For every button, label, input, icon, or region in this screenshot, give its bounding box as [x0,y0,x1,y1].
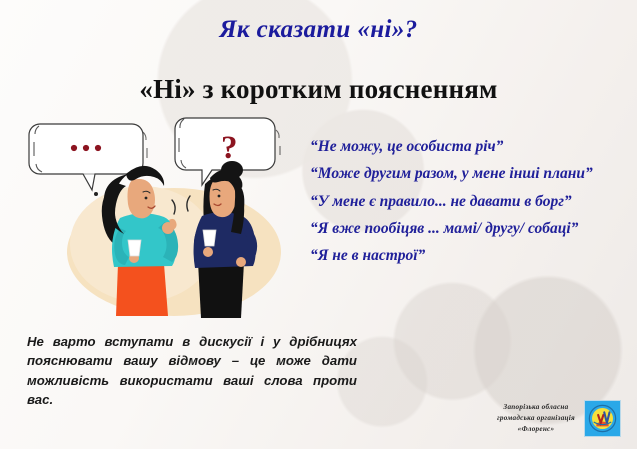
org-line-1: Запорізька обласна [497,402,575,413]
org-line-3: «Флоренс» [497,424,575,435]
quote-item: “Я вже пообіцяв ... мамі/ другу/ собаці” [310,218,622,240]
page-subtitle: «Ні» з коротким поясненням [0,74,637,105]
quote-item: “Може другим разом, у мене інші плани” [310,163,622,185]
illustration-two-women-talking: ? [22,112,312,324]
quote-item: “Не можу, це особиста річ” [310,136,622,158]
quote-item: “Я не в настрої” [310,245,622,267]
organization-name: Запорізька обласна громадська організаці… [497,402,575,435]
quote-item: “У мене є правило... не давати в борг” [310,191,622,213]
organization-logo-icon [584,400,621,437]
svg-text:?: ? [221,130,238,166]
org-line-2: громадська організація [497,413,575,424]
quote-list: “Не можу, це особиста річ” “Може другим … [310,136,622,273]
advice-paragraph: Не варто вступати в дискусії і у дрібниц… [27,332,357,409]
footer-organization: Запорізька обласна громадська організаці… [497,400,621,437]
page-title: Як сказати «ні»? [0,16,637,44]
slide-canvas: Як сказати «ні»? «Ні» з коротким пояснен… [0,0,637,449]
